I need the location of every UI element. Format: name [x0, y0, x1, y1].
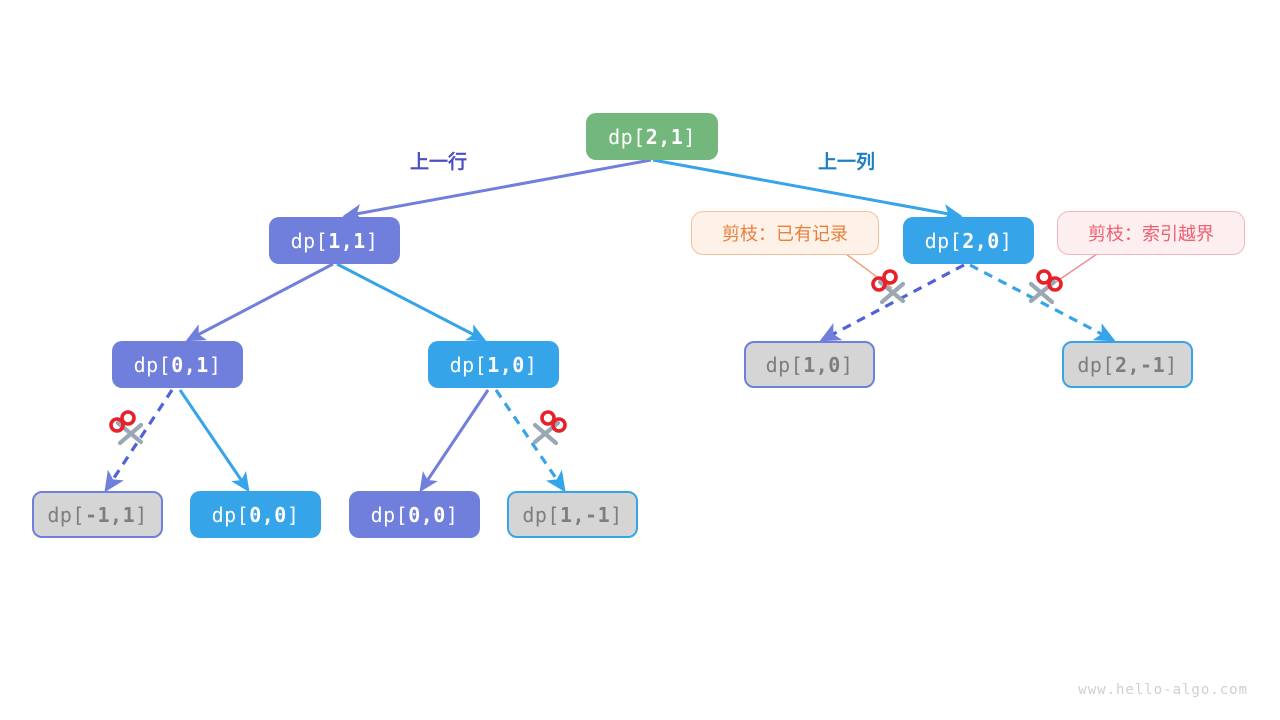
- node-label: dp[1,0]: [450, 353, 538, 377]
- scissors-icon-cut-4: [1020, 266, 1064, 310]
- scissors-icon-cut-1: [108, 407, 152, 451]
- edge-dp01-to-dp00blue: [180, 390, 248, 490]
- node-label: dp[0,0]: [212, 503, 300, 527]
- edge-root-to-dp11: [345, 160, 651, 216]
- node-dp-1-1[interactable]: dp[1,1]: [269, 217, 400, 264]
- node-label: dp[-1,1]: [47, 503, 147, 527]
- callout-text: 剪枝：已有记录: [722, 220, 848, 246]
- node-dp-1-minus1-pruned[interactable]: dp[1,-1]: [507, 491, 638, 538]
- node-label: dp[2,-1]: [1077, 353, 1177, 377]
- edge-label-prev-col: 上一列: [818, 147, 875, 174]
- node-label: dp[1,0]: [766, 353, 854, 377]
- node-dp-minus1-1-pruned[interactable]: dp[-1,1]: [32, 491, 163, 538]
- callout-index-out-of-range: 剪枝：索引越界: [1057, 211, 1245, 255]
- node-dp-0-0-purple[interactable]: dp[0,0]: [349, 491, 480, 538]
- scissors-icon-cut-3: [870, 266, 914, 310]
- callout-text: 剪枝：索引越界: [1088, 220, 1214, 246]
- scissors-icon-cut-2: [524, 407, 568, 451]
- node-dp-1-0[interactable]: dp[1,0]: [428, 341, 559, 388]
- node-dp-2-1[interactable]: dp[2,1]: [586, 113, 718, 160]
- node-label: dp[2,1]: [608, 125, 696, 149]
- node-dp-2-0[interactable]: dp[2,0]: [903, 217, 1034, 264]
- edge-label-prev-row: 上一行: [410, 147, 467, 174]
- node-label: dp[1,-1]: [522, 503, 622, 527]
- node-dp-0-0-blue[interactable]: dp[0,0]: [190, 491, 321, 538]
- node-dp-0-1[interactable]: dp[0,1]: [112, 341, 243, 388]
- node-label: dp[1,1]: [291, 229, 379, 253]
- node-label: dp[0,1]: [134, 353, 222, 377]
- diagram-canvas: dp[2,1] dp[1,1] dp[2,0] dp[0,1] dp[1,0] …: [0, 0, 1280, 720]
- node-label: dp[0,0]: [371, 503, 459, 527]
- node-dp-2-minus1-pruned[interactable]: dp[2,-1]: [1062, 341, 1193, 388]
- edge-label-text: 上一行: [410, 151, 467, 173]
- node-label: dp[2,0]: [925, 229, 1013, 253]
- edge-root-to-dp20: [653, 160, 960, 216]
- callout-memo-hit: 剪枝：已有记录: [691, 211, 879, 255]
- edge-label-text: 上一列: [818, 151, 875, 173]
- edge-dp11-to-dp10: [337, 264, 484, 340]
- edge-dp11-to-dp01: [188, 264, 333, 340]
- node-dp-1-0-pruned[interactable]: dp[1,0]: [744, 341, 875, 388]
- watermark: www.hello-algo.com: [1078, 682, 1248, 698]
- edge-dp10-to-dp00purple: [421, 390, 488, 490]
